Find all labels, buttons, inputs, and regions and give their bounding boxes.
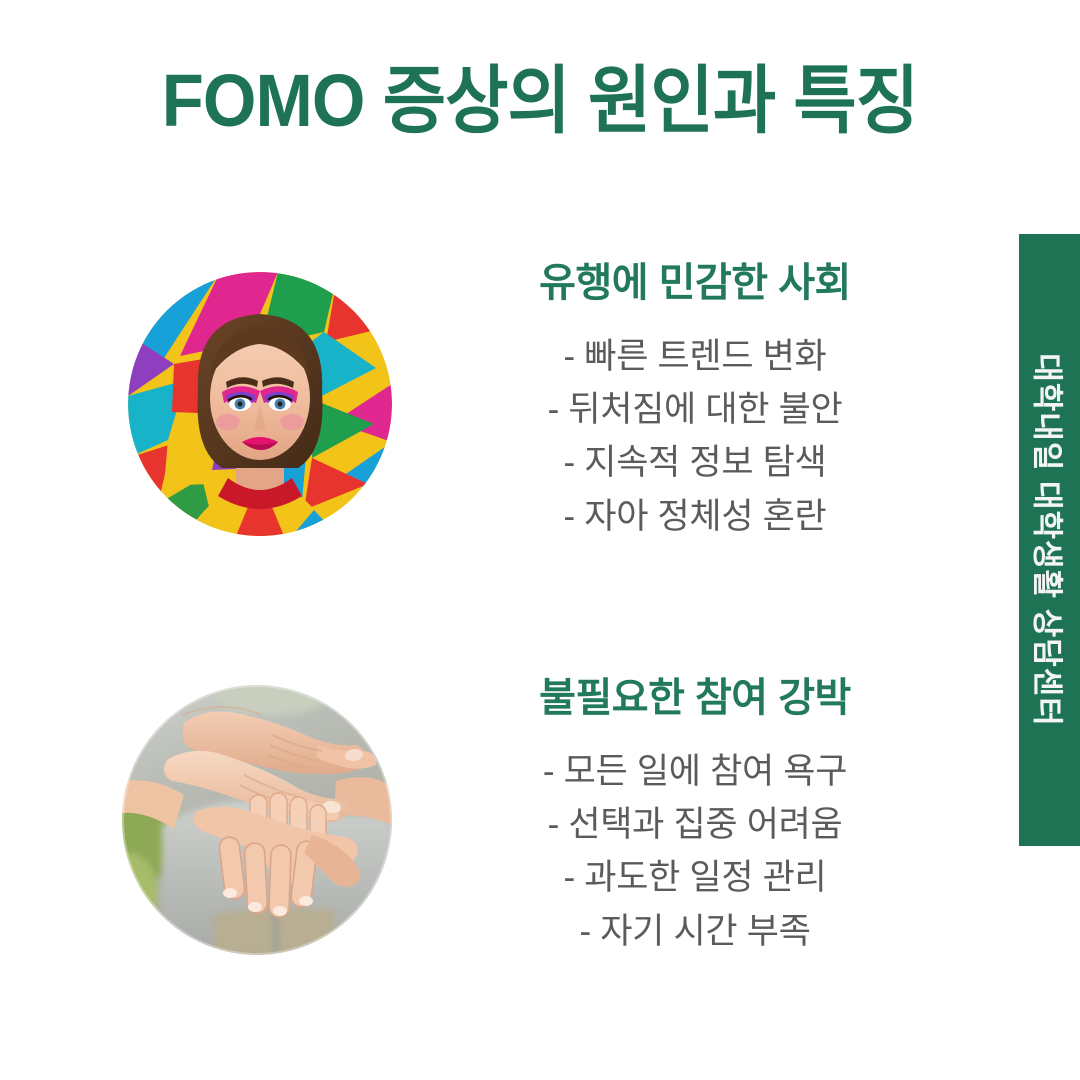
section-heading: 유행에 민감한 사회: [470, 250, 920, 308]
section-unnecessary-participation-compulsion: 불필요한 참여 강박 - 모든 일에 참여 욕구 - 선택과 집중 어려움 - …: [0, 665, 1019, 965]
bullet-list: - 빠른 트렌드 변화 - 뒤처짐에 대한 불안 - 지속적 정보 탐색 - 자…: [470, 330, 920, 543]
list-item: - 빠른 트렌드 변화: [470, 330, 920, 383]
list-item: - 지속적 정보 탐색: [470, 436, 920, 489]
list-item: - 과도한 일정 관리: [470, 851, 920, 904]
section-trend-sensitive-society: 유행에 민감한 사회 - 빠른 트렌드 변화 - 뒤처짐에 대한 불안 - 지속…: [0, 250, 1019, 550]
page-title: FOMO 증상의 원인과 특징: [38, 62, 1042, 140]
section-heading: 불필요한 참여 강박: [470, 665, 920, 723]
list-item: - 모든 일에 참여 욕구: [470, 745, 920, 798]
stacked-hands-teamwork-photo: [122, 685, 392, 955]
list-item: - 뒤처짐에 대한 불안: [470, 383, 920, 436]
bullet-list: - 모든 일에 참여 욕구 - 선택과 집중 어려움 - 과도한 일정 관리 -…: [470, 745, 920, 958]
section-text-column: 불필요한 참여 강박 - 모든 일에 참여 욕구 - 선택과 집중 어려움 - …: [470, 665, 920, 958]
woman-colorful-makeup-photo: [128, 272, 392, 536]
vertical-brand-bar: 대학내일 대학생활 상담센터: [1019, 234, 1080, 846]
section-text-column: 유행에 민감한 사회 - 빠른 트렌드 변화 - 뒤처짐에 대한 불안 - 지속…: [470, 250, 920, 543]
list-item: - 선택과 집중 어려움: [470, 798, 920, 851]
vertical-brand-label: 대학내일 대학생활 상담센터: [1027, 353, 1072, 726]
list-item: - 자아 정체성 혼란: [470, 490, 920, 543]
list-item: - 자기 시간 부족: [470, 905, 920, 958]
